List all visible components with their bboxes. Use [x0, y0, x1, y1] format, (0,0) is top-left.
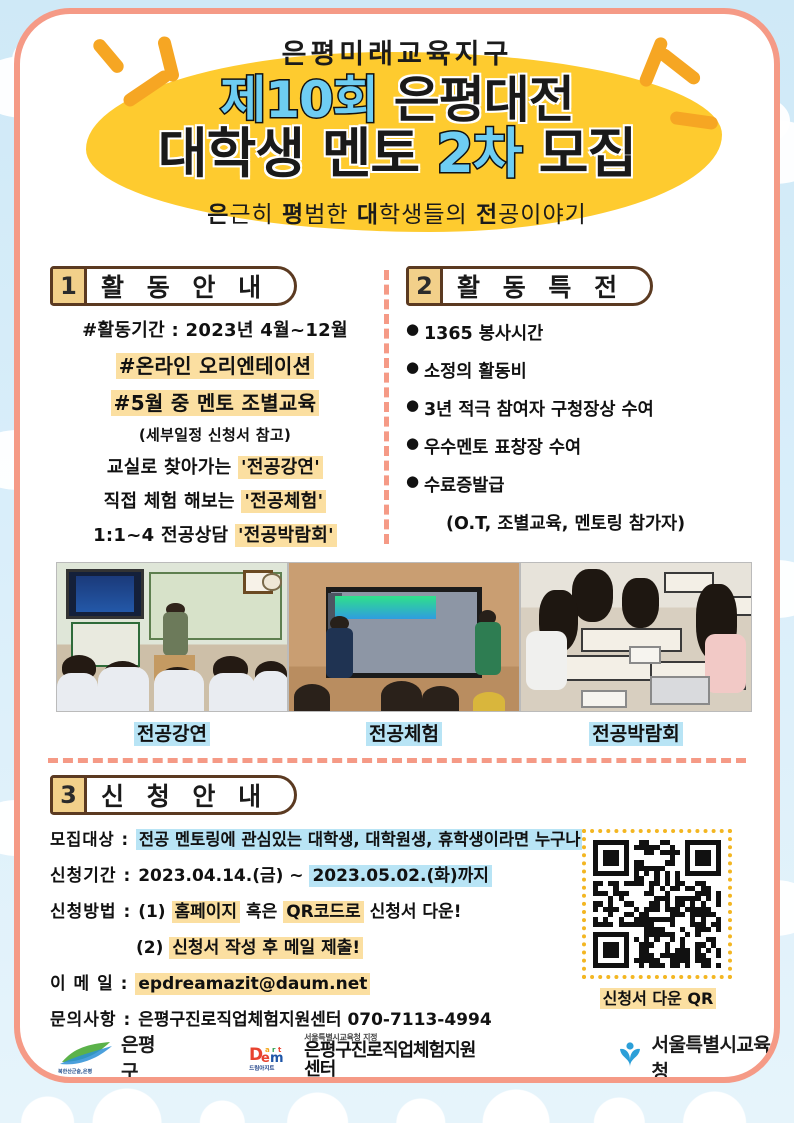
footer-item-seoul-education: 서울특별시교육청 [615, 1030, 774, 1083]
logo-name: 은평구 [121, 1030, 163, 1083]
title-line-1: 제10회 은평대전 [42, 75, 752, 125]
photo-row: 전공강연 전공체험 [42, 562, 752, 746]
qr-code[interactable] [582, 829, 732, 979]
student-body [475, 622, 500, 675]
title-edition-badge: 제10회 [220, 71, 378, 129]
photo-cell-fair: 전공박람회 [520, 562, 752, 746]
logo-name: 은평구진로직업체험지원센터 [304, 1042, 486, 1080]
classroom-lecture-photo [56, 562, 288, 712]
list-item: ●1365 봉사시간 [406, 320, 752, 345]
section-2-number: 2 [409, 269, 443, 303]
activity-detail-note: (세부일정 신청서 참고) [50, 424, 380, 445]
list-item: ●소정의 활동비 [406, 358, 752, 383]
photo-caption: 전공박람회 [520, 719, 752, 746]
audio-software-window [335, 596, 436, 620]
target-audience-row: 모집대상 : 전공 멘토링에 관심있는 대학생, 대학원생, 휴학생이라면 누구… [50, 826, 570, 850]
vertical-divider [384, 270, 389, 544]
svg-text:a: a [265, 1046, 270, 1054]
seoul-education-office-logo-icon [615, 1040, 645, 1070]
tagline-seg: 근히 [229, 202, 282, 228]
bullet-icon: ● [406, 358, 424, 378]
section-1: 1 활 동 안 내 #활동기간 : 2023년 4월~12월 #온라인 오리엔테… [42, 266, 380, 556]
section-2-benefits-list: ●1365 봉사시간 ●소정의 활동비 ●3년 적극 참여자 구청장상 수여 ●… [406, 320, 752, 497]
paper [581, 690, 627, 708]
district-label: 은평미래교육지구 [42, 14, 752, 71]
footer-item-eunpyeong: 북한산군술,은평 은평구 [58, 1030, 163, 1083]
instructor-body [326, 628, 354, 678]
tagline-seg: 전 [476, 202, 498, 228]
qr-block: 신청서 다운 QR [582, 829, 734, 1009]
svg-text:r: r [272, 1046, 276, 1054]
logo-name: 서울특별시교육청 [652, 1030, 774, 1083]
section-2-title: 활 동 특 전 [443, 269, 650, 303]
tagline-seg: 범한 [304, 202, 357, 228]
title-line-2: 대학생 멘토 2차 모집 [42, 127, 752, 181]
email-address[interactable]: epdreamazit@daum.net [135, 973, 370, 995]
tagline-seg: 학생들의 [379, 202, 476, 228]
application-period-row: 신청기간 : 2023.04.14.(금) ~ 2023.05.02.(화)까지 [50, 861, 570, 886]
section-1-header: 1 활 동 안 내 [50, 266, 297, 306]
participant-body [705, 634, 746, 693]
cloud-band [0, 1083, 794, 1123]
photo-caption: 전공체험 [288, 719, 520, 746]
audience-head [381, 681, 422, 711]
program-lecture: 교실로 찾아가는 '전공강연' [50, 453, 380, 479]
program-fair: 1:1~4 전공상담 '전공박람회' [50, 521, 380, 547]
section-2-header: 2 활 동 특 전 [406, 266, 653, 306]
logo-subtext: 북한산군술,은평 [58, 1068, 92, 1075]
tv-screen [76, 576, 134, 611]
title-round-badge: 2차 [436, 122, 521, 185]
student-body [154, 670, 205, 711]
bullet-icon: ● [406, 434, 424, 454]
bullet-icon: ● [406, 472, 424, 492]
activity-group-training: #5월 중 멘토 조별교육 [50, 387, 380, 416]
tagline-seg: 공이야기 [498, 202, 587, 228]
bullet-icon: ● [406, 320, 424, 340]
tv-monitor [66, 569, 144, 619]
laptop [650, 676, 710, 706]
application-method-step2: (2) 신청서 작성 후 메일 제출! [136, 933, 570, 958]
section-3: 3 신 청 안 내 모집대상 : 전공 멘토링에 관심있는 대학생, 대학원생,… [42, 763, 752, 1030]
student-body [98, 667, 149, 711]
poster-card: 은평미래교육지구 제10회 은평대전 대학생 멘토 2차 모집 은근히 평범한 … [14, 8, 780, 1083]
participant-body [526, 631, 567, 690]
participant-hair [622, 578, 659, 628]
info-columns: 1 활 동 안 내 #활동기간 : 2023년 4월~12월 #온라인 오리엔테… [42, 266, 752, 556]
section-3-rows: 모집대상 : 전공 멘토링에 관심있는 대학생, 대학원생, 휴학생이라면 누구… [50, 826, 570, 1030]
tagline-seg: 대 [357, 202, 379, 228]
application-method-row: 신청방법 : (1) 홈페이지 혹은 QR코드로 신청서 다운! [50, 897, 570, 922]
student-body [209, 673, 255, 711]
photo-cell-experience: 전공체험 [288, 562, 520, 746]
dream-azit-text: 서울특별시교육청 지정 은평구진로직업체험지원센터 [304, 1034, 486, 1080]
section-3-number: 3 [53, 778, 87, 812]
presenter-body [163, 612, 188, 656]
activity-period: #활동기간 : 2023년 4월~12월 [50, 316, 380, 342]
dream-azit-logo-icon: D e m a r t [249, 1043, 297, 1065]
audience-head [422, 686, 459, 711]
bullet-icon: ● [406, 396, 424, 416]
section-2: 2 활 동 특 전 ●1365 봉사시간 ●소정의 활동비 ●3년 적극 참여자… [380, 266, 752, 556]
eunpyeong-gu-logo: 북한산군술,은평 [58, 1040, 114, 1074]
list-item: ●우수멘토 표창장 수여 [406, 434, 752, 459]
section-3-header: 3 신 청 안 내 [50, 775, 297, 815]
student-body [57, 673, 98, 711]
audience-head [294, 684, 331, 711]
section-3-title: 신 청 안 내 [87, 778, 294, 812]
email-row: 이 메 일 : epdreamazit@daum.net [50, 969, 570, 994]
logo-subtext: 드림아지트 [249, 1064, 274, 1072]
list-item: ●3년 적극 참여자 구청장상 수여 [406, 396, 752, 421]
certificate-note: (O.T, 조별교육, 멘토링 참가자) [446, 510, 752, 535]
eunpyeong-gu-logo-icon [58, 1040, 114, 1070]
desk-fair-photo [520, 562, 752, 712]
auditorium-experience-photo [288, 562, 520, 712]
section-1-number: 1 [53, 269, 87, 303]
title-subject: 대학생 멘토 [158, 122, 419, 185]
photo-caption: 전공강연 [56, 719, 288, 746]
section-1-list: #활동기간 : 2023년 4월~12월 #온라인 오리엔테이션 #5월 중 멘… [50, 316, 380, 547]
tagline-seg: 은 [207, 202, 229, 228]
title-block: 은평미래교육지구 제10회 은평대전 대학생 멘토 2차 모집 은근히 평범한 … [42, 14, 752, 266]
program-experience: 직접 체험 해보는 '전공체험' [50, 487, 380, 513]
footer-logos: 북한산군술,은평 은평구 D e m a r t 드림아지트 서울특별시교육청 … [20, 1037, 774, 1077]
seoul-education-office-logo [615, 1040, 645, 1074]
list-item: ●수료증발급 [406, 472, 752, 497]
dream-azit-logo: D e m a r t 드림아지트 [249, 1043, 297, 1071]
tagline-seg: 평 [282, 202, 304, 228]
activity-orientation: #온라인 오리엔테이션 [50, 350, 380, 379]
student-body [253, 671, 289, 711]
tagline: 은근히 평범한 대학생들의 전공이야기 [42, 195, 752, 229]
qr-caption: 신청서 다운 QR [582, 985, 734, 1009]
section-1-title: 활 동 안 내 [87, 269, 294, 303]
title-event-name: 은평대전 [394, 71, 574, 129]
photo-cell-lecture: 전공강연 [56, 562, 288, 746]
contact-row: 문의사항 : 은평구진로직업체험지원센터 070-7113-4994 [50, 1005, 570, 1030]
paper [629, 646, 661, 664]
footer-item-dream-azit: D e m a r t 드림아지트 서울특별시교육청 지정 은평구진로직업체험지… [249, 1034, 486, 1080]
audience-head [473, 692, 505, 711]
qr-code-modules [593, 840, 721, 968]
title-action: 모집 [539, 122, 636, 185]
